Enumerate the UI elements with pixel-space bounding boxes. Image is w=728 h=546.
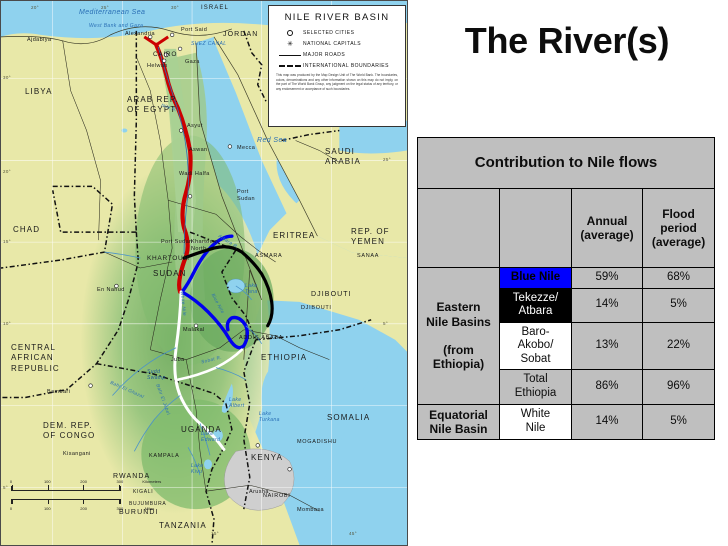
flood-blue-nile: 68% bbox=[643, 268, 715, 289]
scale-mi-100: 100 bbox=[44, 506, 51, 511]
flood-white-nile: 5% bbox=[643, 404, 715, 439]
map-legend: NILE RIVER BASIN SELECTED CITIES ✳ NATIO… bbox=[268, 5, 406, 127]
table-title: Contribution to Nile flows bbox=[418, 138, 715, 189]
legend-label-national-capitals: NATIONAL CAPITALS bbox=[303, 41, 361, 47]
page-title: The River(s) bbox=[417, 20, 717, 62]
legend-row-national-capitals: ✳ NATIONAL CAPITALS bbox=[277, 41, 399, 48]
table-row: Equatorial Nile Basin WhiteNile 14% 5% bbox=[418, 404, 715, 439]
basin-total-ethiopia: TotalEthiopia bbox=[500, 370, 572, 404]
annual-blue-nile: 59% bbox=[572, 268, 643, 289]
scale-km-100: 100 bbox=[44, 479, 51, 484]
legend-disclaimer: This map was produced by the Map Design … bbox=[276, 73, 398, 92]
header-flood: Flood period (average) bbox=[643, 189, 715, 268]
header-flood-line1: Flood bbox=[662, 207, 695, 221]
scale-km-300: 300 bbox=[117, 479, 124, 484]
scale-km-ticks: 0 100 200 300 Kilometers bbox=[11, 479, 121, 486]
scale-mi-unit: Miles bbox=[145, 506, 154, 511]
header-flood-line3: (average) bbox=[652, 235, 705, 249]
scale-km-200: 200 bbox=[80, 479, 87, 484]
table-row: Eastern Nile Basins (from Ethiopia) Blue… bbox=[418, 268, 715, 289]
group-eastern-line2: Nile Basins bbox=[426, 315, 491, 329]
basin-tekezze-atbara: Tekezze/Atbara bbox=[500, 288, 572, 322]
legend-label-international-boundaries: INTERNATIONAL BOUNDARIES bbox=[303, 63, 389, 69]
table-title-row: Contribution to Nile flows bbox=[418, 138, 715, 189]
legend-title: NILE RIVER BASIN bbox=[275, 12, 399, 23]
flood-tekezze-atbara: 5% bbox=[643, 288, 715, 322]
map-scale-bar: 0 100 200 300 Kilometers 0 100 200 300 M… bbox=[11, 479, 121, 513]
dashed-line-icon bbox=[277, 65, 303, 67]
table-header-row: Annual (average) Flood period (average) bbox=[418, 189, 715, 268]
header-blank-1 bbox=[418, 189, 500, 268]
basin-white-nile: WhiteNile bbox=[500, 404, 572, 439]
flood-baro-akobo-sobat: 22% bbox=[643, 322, 715, 370]
legend-label-major-roads: MAJOR ROADS bbox=[303, 52, 345, 58]
header-annual-line2: (average) bbox=[580, 228, 633, 242]
legend-row-major-roads: MAJOR ROADS bbox=[277, 52, 399, 58]
scale-km-0: 0 bbox=[10, 479, 12, 484]
scale-km-unit: Kilometers bbox=[142, 479, 161, 484]
annual-white-nile: 14% bbox=[572, 404, 643, 439]
annual-tekezze-atbara: 14% bbox=[572, 288, 643, 322]
basin-blue-nile: Blue Nile bbox=[500, 268, 572, 289]
scale-mi-line bbox=[11, 499, 121, 504]
group-equatorial-line2: Nile Basin bbox=[429, 422, 487, 436]
group-equatorial-line1: Equatorial bbox=[429, 408, 488, 422]
header-blank-2 bbox=[500, 189, 572, 268]
group-eastern-line1: Eastern bbox=[436, 300, 480, 314]
basin-baro-akobo-sobat: Baro-Akobo/Sobat bbox=[500, 322, 572, 370]
annual-total-ethiopia: 86% bbox=[572, 370, 643, 404]
circle-icon bbox=[277, 30, 303, 36]
scale-km-line bbox=[11, 486, 121, 491]
group-eastern-line3: (from bbox=[443, 343, 474, 357]
contribution-table: Contribution to Nile flows Annual (avera… bbox=[417, 137, 715, 440]
header-flood-line2: period bbox=[660, 221, 697, 235]
legend-row-international-boundaries: INTERNATIONAL BOUNDARIES bbox=[277, 63, 399, 69]
group-eastern-line4: Ethiopia) bbox=[433, 357, 484, 371]
star-icon: ✳ bbox=[277, 41, 303, 48]
nile-basin-map: Mediterranean Sea Red Sea LIBYA ARAB REP… bbox=[0, 0, 408, 546]
legend-label-selected-cities: SELECTED CITIES bbox=[303, 30, 354, 36]
scale-mi-300: 300 bbox=[117, 506, 124, 511]
flood-total-ethiopia: 96% bbox=[643, 370, 715, 404]
group-eastern-nile-basins: Eastern Nile Basins (from Ethiopia) bbox=[418, 268, 500, 405]
group-equatorial-nile-basin: Equatorial Nile Basin bbox=[418, 404, 500, 439]
scale-mi-200: 200 bbox=[80, 506, 87, 511]
nile-flow-contribution-table: Contribution to Nile flows Annual (avera… bbox=[417, 137, 714, 440]
header-annual: Annual (average) bbox=[572, 189, 643, 268]
legend-row-selected-cities: SELECTED CITIES bbox=[277, 30, 399, 36]
annual-baro-akobo-sobat: 13% bbox=[572, 322, 643, 370]
line-icon bbox=[277, 55, 303, 56]
scale-mi-0: 0 bbox=[10, 506, 12, 511]
header-annual-line1: Annual bbox=[587, 214, 628, 228]
scale-mi-ticks: 0 100 200 300 Miles bbox=[11, 506, 121, 513]
